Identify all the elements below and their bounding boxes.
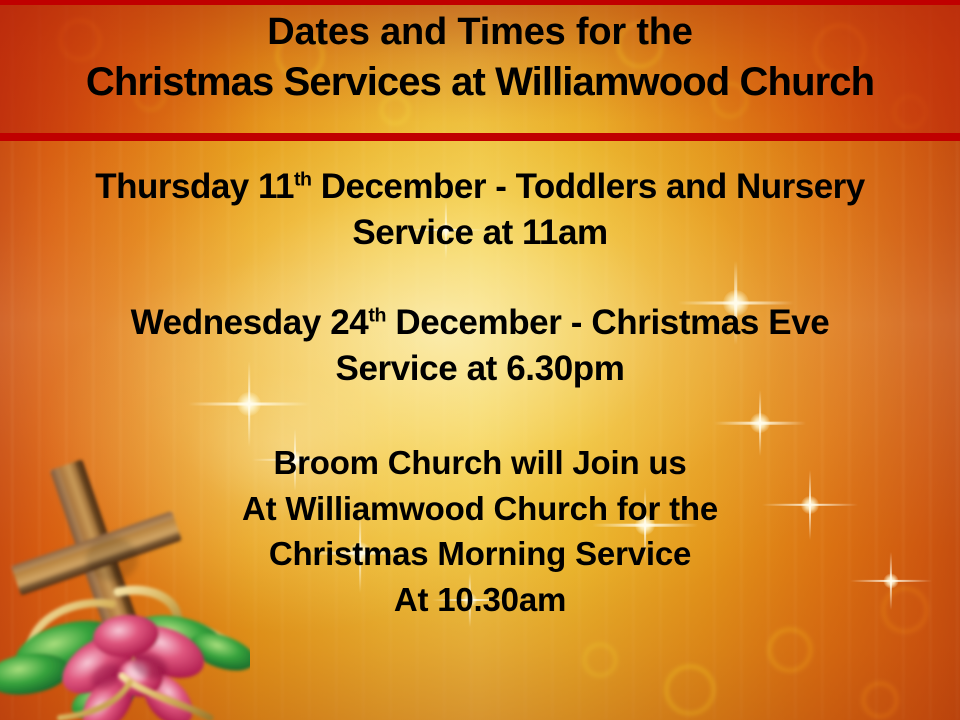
service-1-date-post: December - Toddlers and Nursery	[312, 167, 865, 206]
closing-line-1: Broom Church will Join us	[0, 440, 960, 486]
closing-line-3: Christmas Morning Service	[0, 531, 960, 577]
closing-block-christmas-morning: Broom Church will Join us At Williamwood…	[0, 440, 960, 622]
christmas-service-notice-slide: Dates and Times for the Christmas Servic…	[0, 0, 960, 720]
title-line-2: Christmas Services at Williamwood Church	[0, 61, 960, 104]
service-entry-toddlers-nursery: Thursday 11th December - Toddlers and Nu…	[0, 164, 960, 255]
header-red-rule	[0, 133, 960, 141]
ribbon-tails	[60, 676, 210, 718]
page-title: Dates and Times for the Christmas Servic…	[0, 12, 960, 104]
service-1-date-pre: Thursday 11	[95, 167, 294, 206]
service-2-line-1: Wednesday 24th December - Christmas Eve	[0, 300, 960, 346]
title-line-1: Dates and Times for the	[0, 12, 960, 53]
service-1-line-2: Service at 11am	[0, 210, 960, 256]
service-entry-christmas-eve: Wednesday 24th December - Christmas Eve …	[0, 300, 960, 391]
service-1-line-1: Thursday 11th December - Toddlers and Nu…	[0, 164, 960, 210]
ribbon-green-leaves	[0, 608, 250, 720]
ribbon-bow-icon	[52, 612, 212, 720]
service-2-ordinal: th	[368, 304, 386, 326]
closing-line-4: At 10.30am	[0, 577, 960, 623]
top-red-rule	[0, 0, 960, 5]
service-2-line-2: Service at 6.30pm	[0, 346, 960, 392]
service-2-date-post: December - Christmas Eve	[386, 303, 829, 342]
service-1-ordinal: th	[294, 168, 312, 190]
closing-line-2: At Williamwood Church for the	[0, 486, 960, 532]
service-2-date-pre: Wednesday 24	[131, 303, 369, 342]
